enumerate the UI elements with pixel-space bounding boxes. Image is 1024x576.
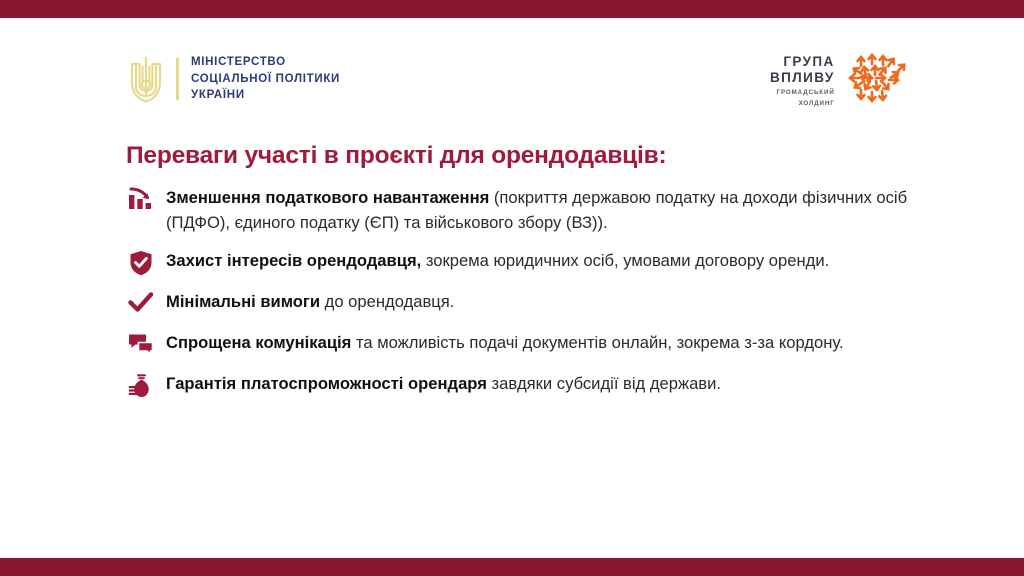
- ministry-name: МІНІСТЕРСТВО СОЦІАЛЬНОЇ ПОЛІТИКИ УКРАЇНИ: [191, 54, 340, 104]
- group-line-2: ВПЛИВУ: [770, 70, 835, 86]
- checkmark-icon: [126, 289, 156, 317]
- radiating-arrows-mark: [841, 52, 919, 110]
- ministry-logo: МІНІСТЕРСТВО СОЦІАЛЬНОЇ ПОЛІТИКИ УКРАЇНИ: [124, 48, 340, 110]
- logo-divider: [176, 58, 179, 100]
- benefits-list: Зменшення податкового навантаження (покр…: [126, 185, 916, 412]
- list-item-bold: Мінімальні вимоги: [166, 292, 320, 311]
- ukraine-trident-emblem: [124, 50, 168, 108]
- group-sub-2: ХОЛДИНГ: [770, 100, 835, 108]
- list-item-bold: Спрощена комунікація: [166, 333, 351, 352]
- list-item: Спрощена комунікація та можливість подач…: [126, 330, 916, 358]
- slide-header: МІНІСТЕРСТВО СОЦІАЛЬНОЇ ПОЛІТИКИ УКРАЇНИ…: [0, 48, 1024, 114]
- list-item-text: Мінімальні вимоги до орендодавця.: [166, 289, 916, 314]
- ministry-line-3: УКРАЇНИ: [191, 87, 340, 104]
- group-logo-text: ГРУПА ВПЛИВУ ГРОМАДСЬКИЙ ХОЛДИНГ: [770, 54, 835, 109]
- ministry-line-2: СОЦІАЛЬНОЇ ПОЛІТИКИ: [191, 71, 340, 88]
- group-sub-1: ГРОМАДСЬКИЙ: [770, 89, 835, 97]
- list-item: Гарантія платоспроможності орендаря завд…: [126, 371, 916, 399]
- group-line-1: ГРУПА: [770, 54, 835, 70]
- list-item-text: Спрощена комунікація та можливість подач…: [166, 330, 916, 355]
- list-item-bold: Захист інтересів орендодавця,: [166, 251, 421, 270]
- ministry-line-1: МІНІСТЕРСТВО: [191, 54, 340, 71]
- declining-bar-chart-icon: [126, 185, 156, 213]
- list-item-bold: Гарантія платоспроможності орендаря: [166, 374, 487, 393]
- list-item: Захист інтересів орендодавця, зокрема юр…: [126, 248, 916, 276]
- list-item-rest: завдяки субсидії від держави.: [487, 374, 721, 393]
- list-item-text: Гарантія платоспроможності орендаря завд…: [166, 371, 916, 396]
- group-vplyvu-logo: ГРУПА ВПЛИВУ ГРОМАДСЬКИЙ ХОЛДИНГ: [770, 50, 919, 112]
- list-item-rest: до орендодавця.: [320, 292, 454, 311]
- list-item: Мінімальні вимоги до орендодавця.: [126, 289, 916, 317]
- top-accent-bar: [0, 0, 1024, 18]
- speech-bubbles-icon: [126, 330, 156, 358]
- shield-check-icon: [126, 248, 156, 276]
- money-bag-icon: [126, 371, 156, 399]
- list-item-text: Захист інтересів орендодавця, зокрема юр…: [166, 248, 916, 273]
- list-item-rest: та можливість подачі документів онлайн, …: [351, 333, 843, 352]
- list-item-rest: зокрема юридичних осіб, умовами договору…: [421, 251, 829, 270]
- slide: МІНІСТЕРСТВО СОЦІАЛЬНОЇ ПОЛІТИКИ УКРАЇНИ…: [0, 0, 1024, 576]
- list-item-text: Зменшення податкового навантаження (покр…: [166, 185, 916, 235]
- list-item-bold: Зменшення податкового навантаження: [166, 188, 489, 207]
- list-item: Зменшення податкового навантаження (покр…: [126, 185, 916, 235]
- page-title: Переваги участі в проєкті для орендодавц…: [126, 142, 666, 170]
- bottom-accent-bar: [0, 558, 1024, 576]
